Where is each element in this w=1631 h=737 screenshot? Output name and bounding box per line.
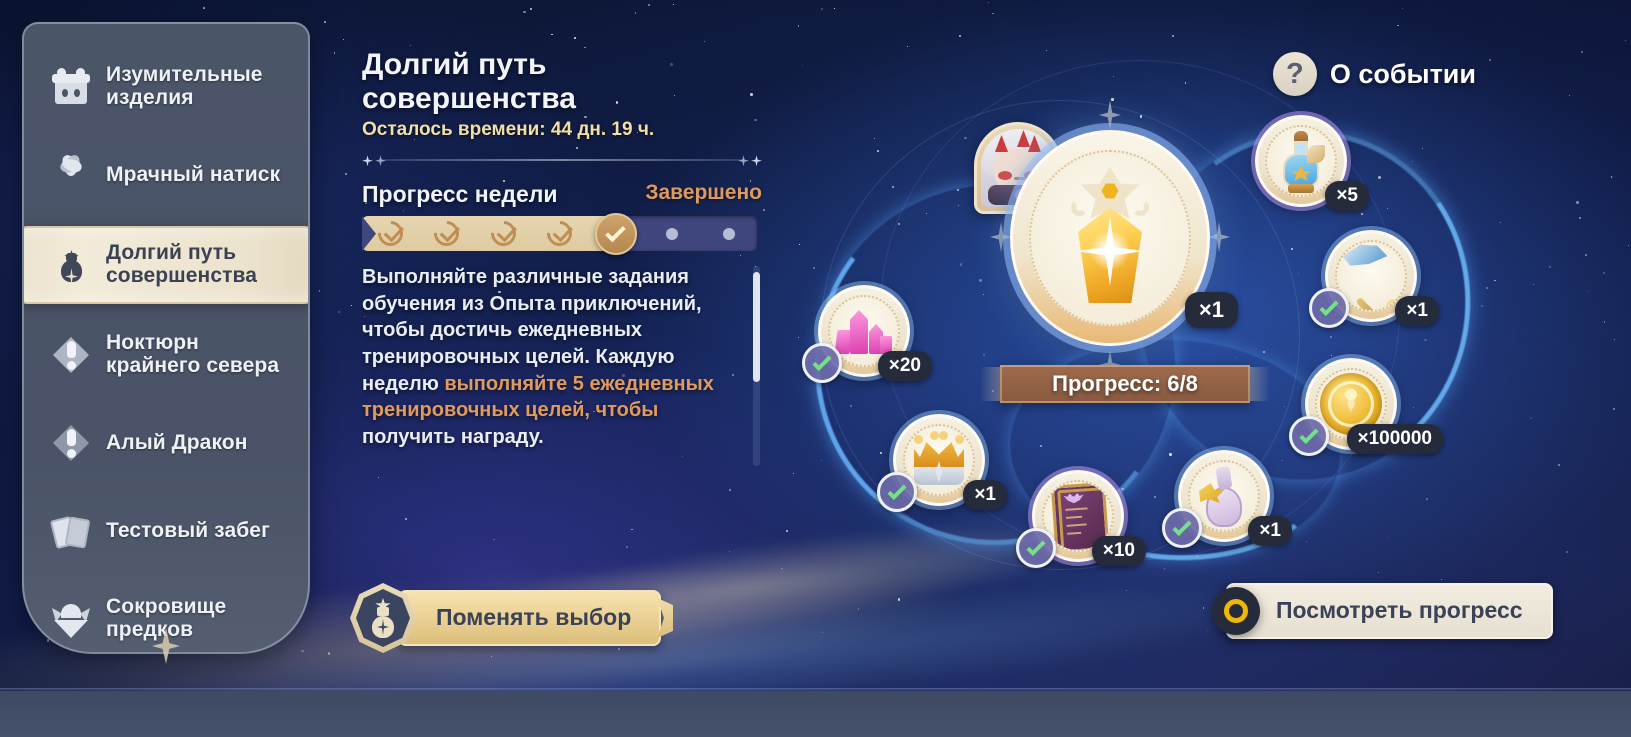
change-selection-button[interactable]: Поменять выбор <box>350 583 661 653</box>
event-detail-panel: Долгий путь совершенства Осталось времен… <box>362 48 762 468</box>
progress-header-row: Прогресс недели Завершено <box>362 181 762 207</box>
sidebar-item-label: Изумительные изделия <box>106 64 294 109</box>
gift-icon <box>50 66 92 108</box>
page-title: Долгий путь совершенства <box>362 48 762 115</box>
progress-ticks <box>362 216 757 251</box>
reward-node-crown[interactable]: ×1 <box>893 414 985 506</box>
change-selection-label: Поменять выбор <box>398 590 661 646</box>
quest-exclamation-icon <box>50 422 92 464</box>
view-progress-button[interactable]: Посмотреть прогресс <box>1196 583 1553 639</box>
reward-node-mora[interactable]: ×100000 <box>1305 358 1397 450</box>
claimed-check-icon <box>877 472 917 512</box>
reward-node-potion[interactable]: ×1 <box>1178 450 1270 542</box>
description-scrollbar[interactable] <box>753 266 760 466</box>
progress-step-6 <box>644 228 700 240</box>
event-sidebar[interactable]: Изумительные изделия Мрачный натиск <box>22 22 310 654</box>
quest-exclamation-icon <box>50 334 92 376</box>
claimed-check-icon <box>1309 288 1349 328</box>
reward-node-crystal[interactable]: ×20 <box>818 285 910 377</box>
reward-count: ×1 <box>963 480 1007 510</box>
reward-count: ×20 <box>878 351 932 381</box>
reward-count: ×10 <box>1092 536 1146 566</box>
view-progress-label: Посмотреть прогресс <box>1226 583 1553 639</box>
scrollbar-thumb[interactable] <box>753 272 760 382</box>
sidebar-item-label: Мрачный натиск <box>106 164 280 187</box>
center-reward-ring <box>1010 130 1210 346</box>
progress-ring-icon <box>1212 587 1260 635</box>
claimed-check-icon <box>1162 508 1202 548</box>
sidebar-item-label: Сокровище предков <box>106 596 294 641</box>
sidebar-list: Изумительные изделия Мрачный натиск <box>24 24 308 652</box>
progress-step-1 <box>362 221 418 246</box>
time-remaining: Осталось времени: 44 дн. 19 ч. <box>362 119 762 141</box>
divider <box>362 155 762 165</box>
bottle-star-icon <box>50 244 92 286</box>
sidebar-item-test-run[interactable]: Тестовый забег <box>24 494 308 568</box>
description-plain-2: получить награду. <box>362 426 544 448</box>
progress-step-7 <box>701 228 757 240</box>
sidebar-item-label: Алый Дракон <box>106 432 248 455</box>
sidebar-item-gloomy-onslaught[interactable]: Мрачный натиск <box>24 138 308 212</box>
cards-icon <box>50 510 92 552</box>
sidebar-item-label: Долгий путь совершенства <box>106 242 300 287</box>
reward-count: ×1 <box>1248 516 1292 546</box>
progress-step-4 <box>531 221 587 246</box>
reward-node-book[interactable]: ×10 <box>1032 470 1124 562</box>
sidebar-item-long-road-of-perfection[interactable]: Долгий путь совершенства <box>24 226 308 304</box>
claimed-check-icon <box>1016 528 1056 568</box>
claimed-check-icon <box>802 343 842 383</box>
sidebar-item-scarlet-dragon[interactable]: Алый Дракон <box>24 406 308 480</box>
reward-node-wand[interactable]: ×1 <box>1325 230 1417 322</box>
bottom-bar <box>0 691 1631 737</box>
reward-count: ×1 <box>1395 296 1439 326</box>
weekly-progress-label: Прогресс недели <box>362 182 558 207</box>
game-screen: Изумительные изделия Мрачный натиск <box>0 0 1631 737</box>
claimed-check-icon <box>1289 416 1329 456</box>
chest-icon <box>50 598 92 640</box>
weekly-progress-bar[interactable] <box>362 216 757 251</box>
sidebar-item-nocturne-of-far-north[interactable]: Ноктюрн крайнего севера <box>24 318 308 392</box>
center-reward-inner <box>1029 150 1192 326</box>
sidebar-item-wondrous-wares[interactable]: Изумительные изделия <box>24 50 308 124</box>
status-badge: Завершено <box>645 181 762 207</box>
sidebar-item-label: Ноктюрн крайнего севера <box>106 332 294 377</box>
reward-count: ×5 <box>1325 181 1369 211</box>
sidebar-item-label: Тестовый забег <box>106 520 270 543</box>
blue-flask-icon <box>1267 127 1335 195</box>
reward-count: ×100000 <box>1347 424 1444 454</box>
progress-step-3 <box>475 221 531 246</box>
progress-banner-text: Прогресс: 6/8 <box>1052 371 1198 397</box>
reward-wheel: ×1 Прогресс: 6/8 ×20 <box>760 70 1520 590</box>
reward-node-flask[interactable]: ×5 <box>1255 115 1347 207</box>
flower-icon <box>50 154 92 196</box>
description-box[interactable]: Выполняйте различные задания обучения из… <box>362 264 760 468</box>
golden-crystal-icon <box>1031 152 1190 324</box>
progress-step-2 <box>418 221 474 246</box>
center-reward-node[interactable]: ×1 <box>1010 130 1210 346</box>
description-text: Выполняйте различные задания обучения из… <box>362 264 740 450</box>
center-reward-count: ×1 <box>1185 292 1238 328</box>
progress-banner: Прогресс: 6/8 <box>1000 365 1250 403</box>
